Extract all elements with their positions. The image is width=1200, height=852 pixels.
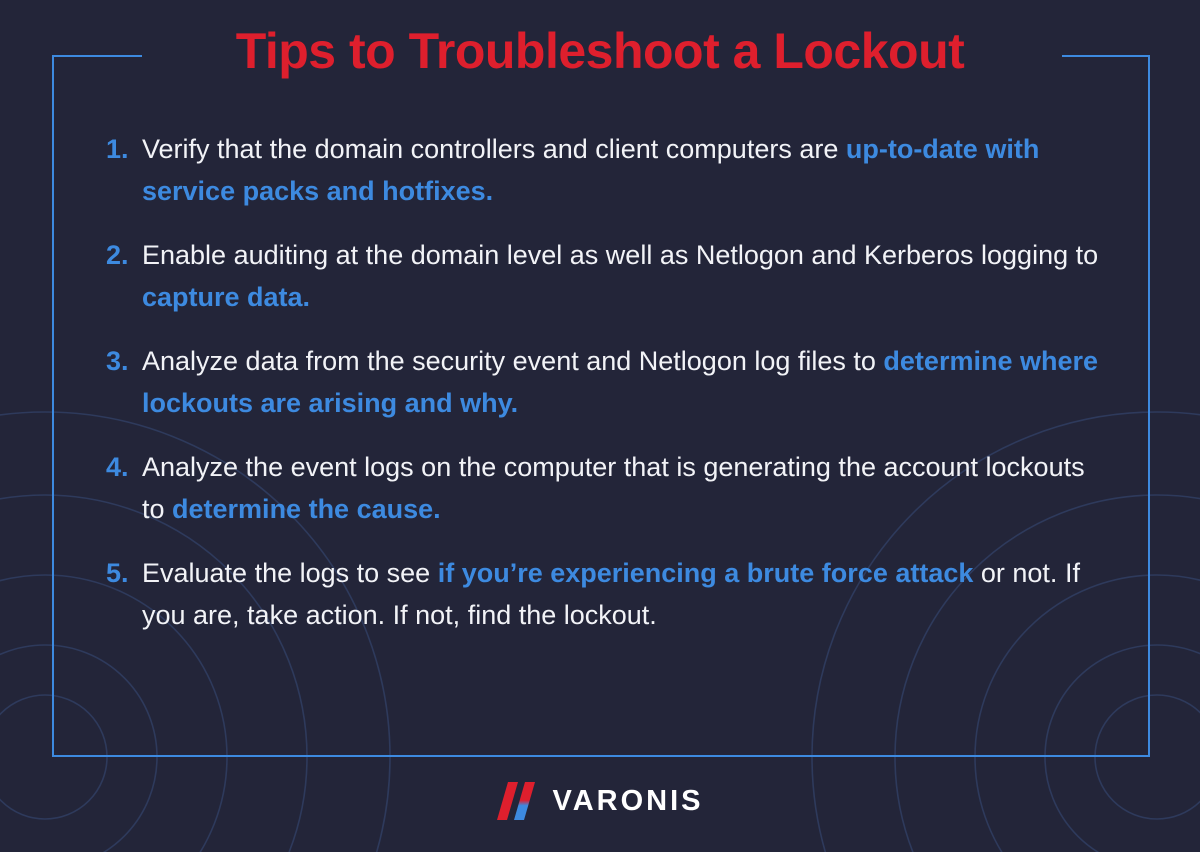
body-text: Analyze data from the security event and… — [142, 346, 883, 376]
varonis-slashes-icon — [497, 782, 543, 820]
list-item-text: Enable auditing at the domain level as w… — [142, 234, 1106, 318]
body-text: Verify that the domain controllers and c… — [142, 134, 846, 164]
list-item: 2.Enable auditing at the domain level as… — [106, 234, 1106, 318]
list-item: 1.Verify that the domain controllers and… — [106, 128, 1106, 212]
varonis-logo: VARONIS — [0, 782, 1200, 820]
page-title: Tips to Troubleshoot a Lockout — [0, 22, 1200, 80]
list-item: 4.Analyze the event logs on the computer… — [106, 446, 1106, 530]
list-item-number: 5. — [106, 552, 142, 594]
list-item: 5.Evaluate the logs to see if you’re exp… — [106, 552, 1106, 636]
infographic-canvas: Tips to Troubleshoot a Lockout 1.Verify … — [0, 0, 1200, 852]
highlighted-text: determine the cause. — [172, 494, 441, 524]
list-item-number: 3. — [106, 340, 142, 382]
highlighted-text: capture data. — [142, 282, 310, 312]
frame-border-left — [52, 55, 54, 757]
varonis-wordmark: VARONIS — [553, 785, 704, 818]
body-text: Enable auditing at the domain level as w… — [142, 240, 1098, 270]
list-item-text: Analyze data from the security event and… — [142, 340, 1106, 424]
list-item-number: 1. — [106, 128, 142, 170]
frame-border-right — [1148, 55, 1150, 757]
list-item-text: Verify that the domain controllers and c… — [142, 128, 1106, 212]
list-item-text: Analyze the event logs on the computer t… — [142, 446, 1106, 530]
body-text: Evaluate the logs to see — [142, 558, 438, 588]
list-item-number: 4. — [106, 446, 142, 488]
frame-border-bottom — [52, 755, 1150, 757]
list-item-text: Evaluate the logs to see if you’re exper… — [142, 552, 1106, 636]
tips-list: 1.Verify that the domain controllers and… — [106, 128, 1106, 658]
list-item: 3.Analyze data from the security event a… — [106, 340, 1106, 424]
list-item-number: 2. — [106, 234, 142, 276]
highlighted-text: if you’re experiencing a brute force att… — [438, 558, 974, 588]
